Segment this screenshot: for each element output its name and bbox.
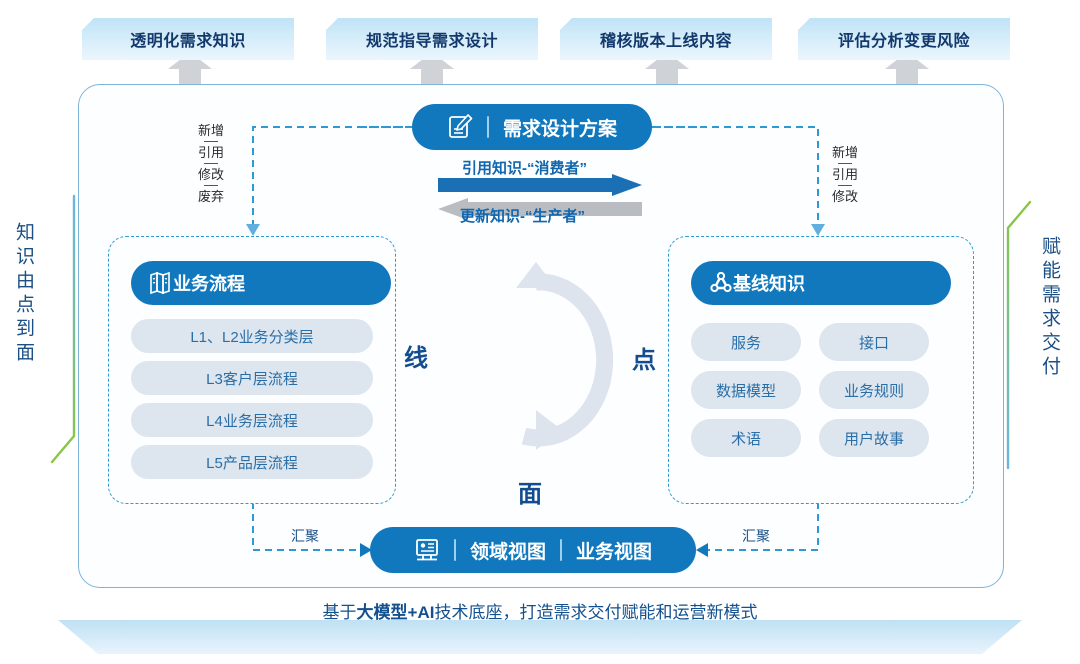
top-banner-2[interactable]: 规范指导需求设计 [326,18,538,60]
document-edit-icon [447,114,473,140]
right-guide-line-icon [1000,196,1034,468]
recycle-network-icon [709,271,733,295]
annot-divider [838,163,852,164]
panel-right-tag-grid: 服务 接口 数据模型 业务规则 术语 用户故事 [691,323,929,457]
view-pill-separator-1 [454,539,456,561]
panel-right-tag-1[interactable]: 接口 [819,323,929,361]
top-banner-3-label: 稽核版本上线内容 [600,27,732,51]
diagram-canvas: 透明化需求知识 规范指导需求设计 稽核版本上线内容 评估分析变更风险 知识由点到… [0,0,1080,664]
view-pill-separator-2 [560,539,562,561]
annot-right-2: 修改 [832,190,858,203]
panel-left-tag-3[interactable]: L5产品层流程 [131,445,373,479]
scheme-pill[interactable]: 需求设计方案 [412,104,652,150]
annot-left-1: 引用 [198,146,224,159]
cycle-label-point: 点 [632,340,656,375]
panel-left-header[interactable]: 业务流程 [131,261,391,305]
top-banner-1[interactable]: 透明化需求知识 [82,18,294,60]
panel-left-tag-1[interactable]: L3客户层流程 [131,361,373,395]
panel-left-tag-2[interactable]: L4业务层流程 [131,403,373,437]
top-banner-4-label: 评估分析变更风险 [838,27,970,51]
cycle-label-line: 线 [404,338,428,373]
reference-flow-label: 引用知识-“消费者” [462,157,587,178]
scheme-pill-separator [487,116,489,138]
left-guide-line-icon [48,196,82,468]
annot-left-3: 废弃 [198,190,224,203]
annot-right-0: 新增 [832,146,858,159]
annot-divider [838,185,852,186]
view-pill-label-1: 领域视图 [470,537,546,564]
right-side-label: 赋能需求交付 [1040,236,1059,380]
panel-business-process: 业务流程 L1、L2业务分类层 L3客户层流程 L4业务层流程 L5产品层流程 [108,236,396,504]
scheme-pill-label: 需求设计方案 [503,114,617,141]
panel-right-header[interactable]: 基线知识 [691,261,951,305]
process-map-icon [149,271,173,295]
view-pill[interactable]: 领域视图 业务视图 [370,527,696,573]
update-flow-label: 更新知识-“生产者” [460,205,585,226]
annotation-stack-left: 新增 引用 修改 废弃 [198,124,224,203]
panel-right-tag-5[interactable]: 用户故事 [819,419,929,457]
panel-right-tag-3[interactable]: 业务规则 [819,371,929,409]
panel-baseline-knowledge: 基线知识 服务 接口 数据模型 业务规则 术语 用户故事 [668,236,974,504]
left-side-label: 知识由点到面 [14,222,33,366]
domain-view-icon [414,538,440,562]
annot-divider [204,185,218,186]
panel-right-tag-2[interactable]: 数据模型 [691,371,801,409]
annot-divider [204,141,218,142]
annotation-stack-right: 新增 引用 修改 [832,146,858,203]
annot-divider [204,163,218,164]
panel-right-title: 基线知识 [733,270,805,296]
top-banner-3[interactable]: 稽核版本上线内容 [560,18,772,60]
panel-right-tag-0[interactable]: 服务 [691,323,801,361]
panel-right-tag-4[interactable]: 术语 [691,419,801,457]
view-pill-label-2: 业务视图 [576,537,652,564]
top-banner-4[interactable]: 评估分析变更风险 [798,18,1010,60]
top-banner-2-label: 规范指导需求设计 [366,27,498,51]
cycle-arrow-icon [462,258,610,464]
panel-left-tag-0[interactable]: L1、L2业务分类层 [131,319,373,353]
converge-label-left: 汇聚 [291,526,319,546]
panel-left-tag-list: L1、L2业务分类层 L3客户层流程 L4业务层流程 L5产品层流程 [131,319,373,479]
annot-left-2: 修改 [198,168,224,181]
bottom-base-shape [58,620,1022,654]
annot-right-1: 引用 [832,168,858,181]
top-banner-1-label: 透明化需求知识 [130,27,246,51]
cycle-label-plane: 面 [518,474,542,509]
converge-label-right: 汇聚 [742,526,770,546]
annot-left-0: 新增 [198,124,224,137]
panel-left-title: 业务流程 [173,270,245,296]
